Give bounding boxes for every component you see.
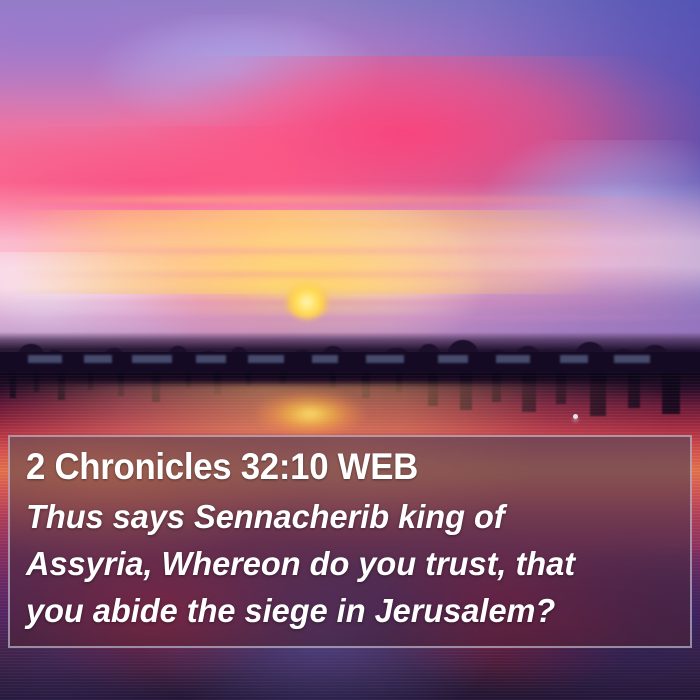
shoreline-buildings <box>0 352 700 372</box>
building <box>84 355 112 363</box>
verse-image: 2 Chronicles 32:10 WEB Thus says Sennach… <box>0 0 700 700</box>
cirrus-streak <box>0 272 700 277</box>
buoy <box>573 414 578 419</box>
building <box>366 355 404 363</box>
cirrus-streak <box>0 248 700 254</box>
verse-text: Thus says Sennacherib king of Assyria, W… <box>26 493 690 634</box>
verse-line: Assyria, Whereon do you trust, that <box>26 540 680 587</box>
verse-line: Thus says Sennacherib king of <box>26 493 680 540</box>
cirrus-streak <box>0 222 700 228</box>
sun <box>286 285 328 319</box>
verse-line: you abide the siege in Jerusalem? <box>26 587 680 634</box>
building <box>196 355 226 363</box>
reflection-streak <box>280 372 286 384</box>
building <box>496 355 530 363</box>
verse-reference: 2 Chronicles 32:10 WEB <box>26 446 650 488</box>
building <box>560 355 588 363</box>
building <box>438 355 468 363</box>
building <box>248 355 284 363</box>
verse-overlay-card: 2 Chronicles 32:10 WEB Thus says Sennach… <box>8 435 692 648</box>
cirrus-streak <box>0 196 700 203</box>
building <box>614 355 650 363</box>
building <box>132 355 172 363</box>
building <box>312 355 338 363</box>
building <box>28 355 62 363</box>
